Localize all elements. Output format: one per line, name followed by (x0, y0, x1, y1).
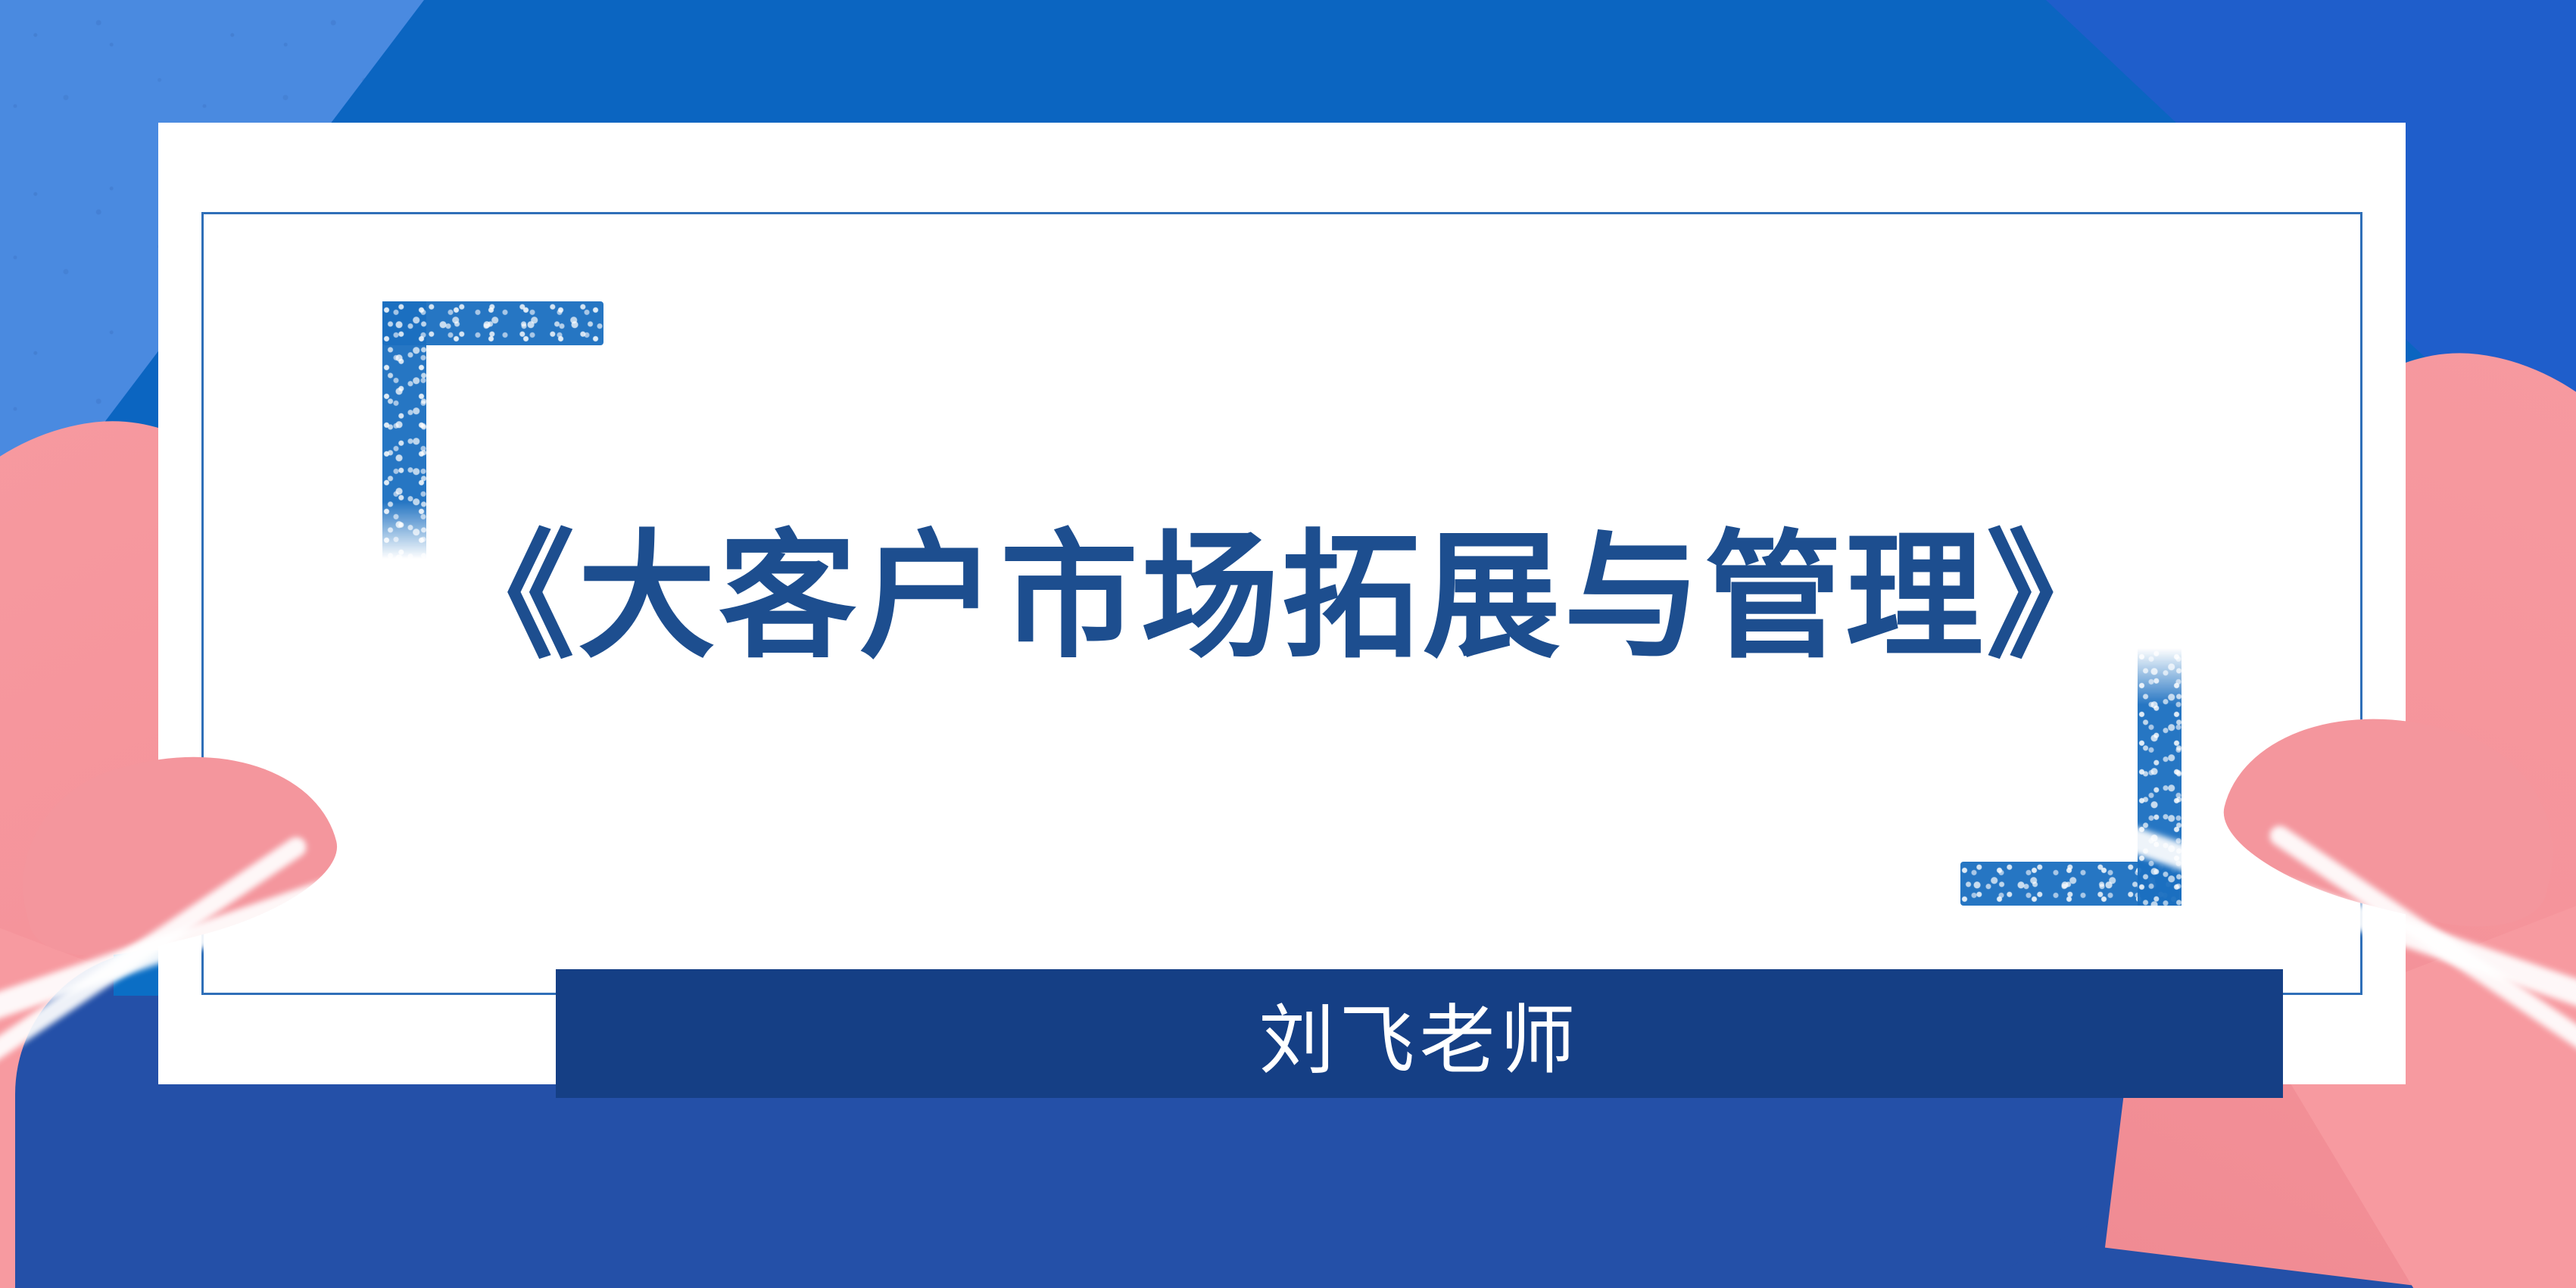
slide-title: 《大客户市场拓展与管理》 (158, 528, 2406, 666)
slide-canvas: 《大客户市场拓展与管理》 刘飞老师 (0, 0, 2576, 1288)
content-card: 《大客户市场拓展与管理》 刘飞老师 (158, 123, 2406, 1084)
presenter-bar: 刘飞老师 (556, 969, 2283, 1098)
presenter-name: 刘飞老师 (556, 979, 2283, 1089)
